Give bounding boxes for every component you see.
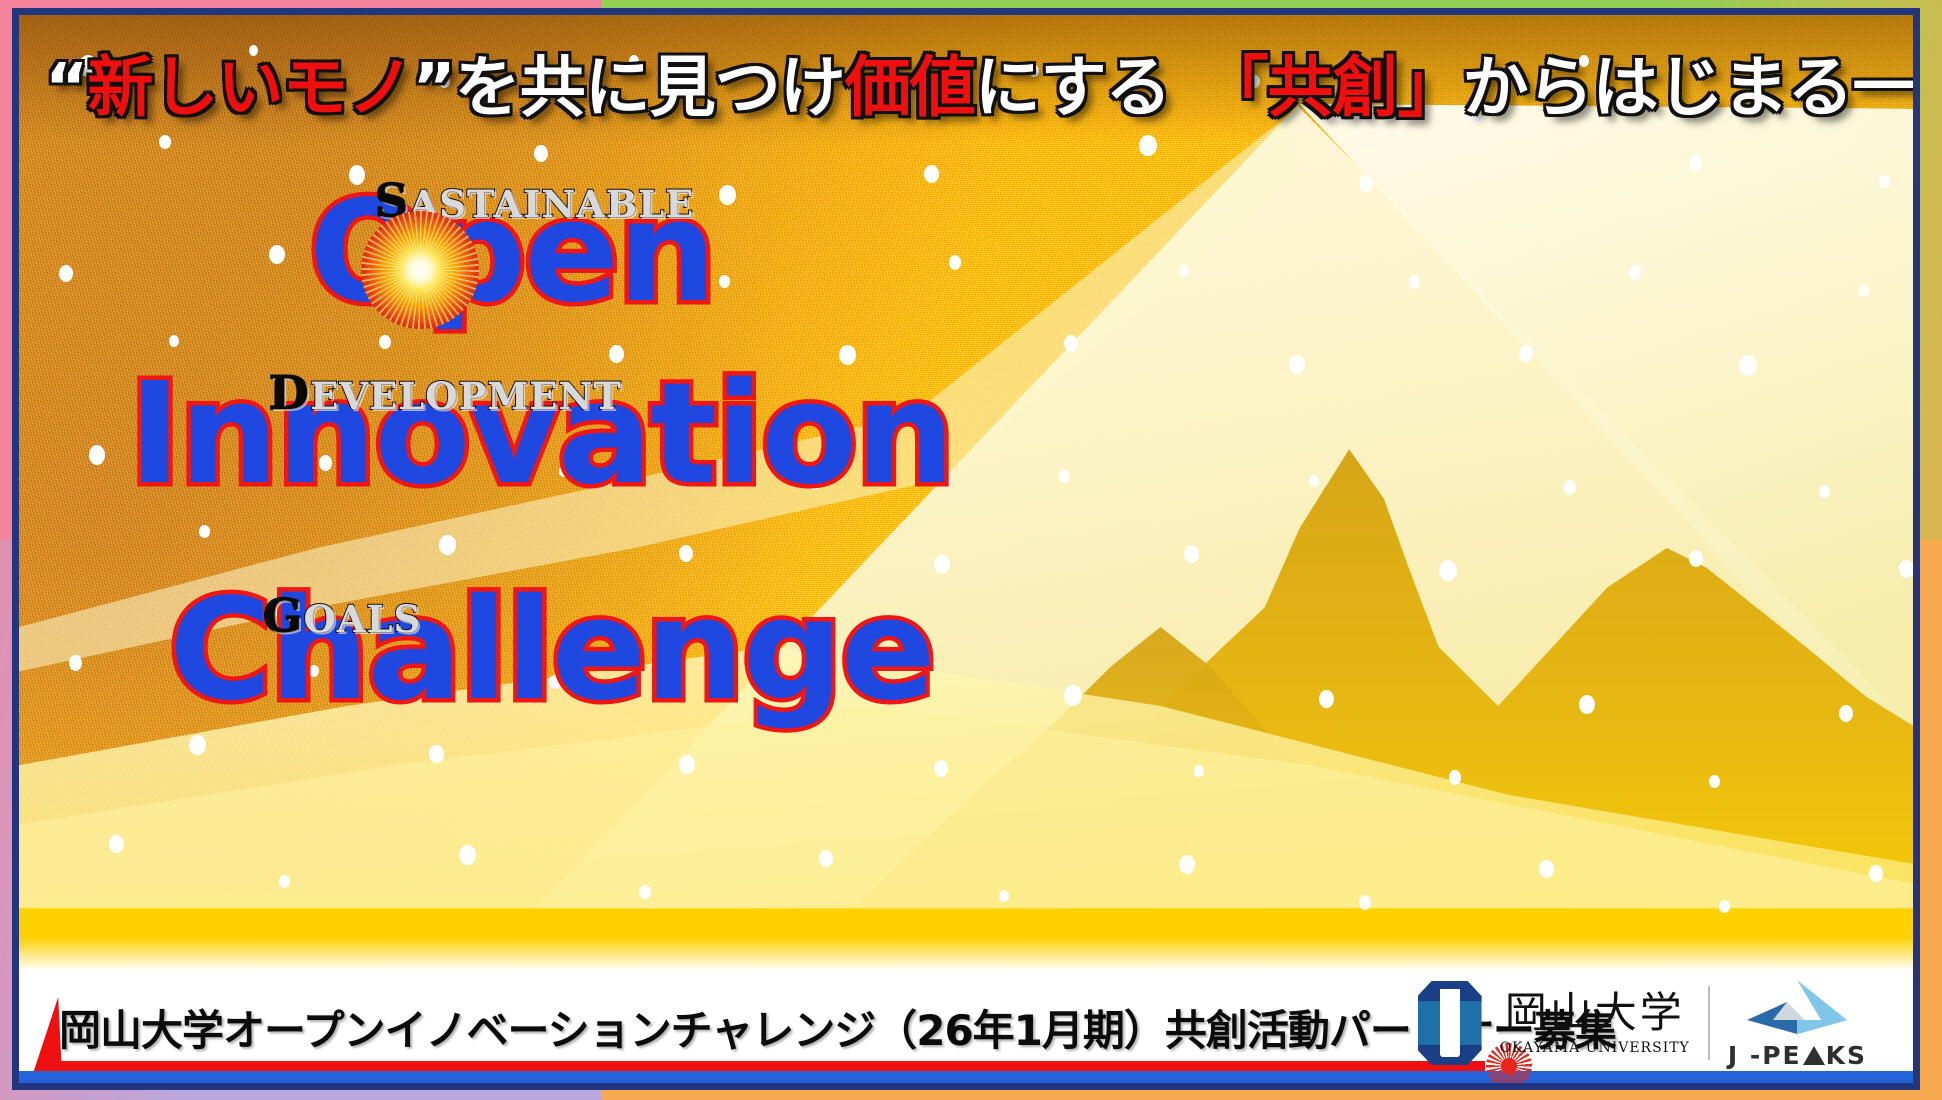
logo-group: 岡山大学 OKAYAMA UNIVERSITY J -PEKS (1418, 971, 1867, 1075)
serif-word-development: DEVELOPMENT (269, 370, 622, 416)
bottom-bar-fade (19, 937, 1913, 971)
poster-canvas: “新しいモノ”を共に見つけ価値にする 「共創」からはじまる一歩 Open SAS… (19, 15, 1913, 1083)
bottom-bar: 岡山大学オープンイノベーションチャレンジ（26年1月期）共創活動パートナー募集 … (19, 971, 1913, 1083)
j-peaks-mountain-mark-icon (1743, 976, 1851, 1038)
serif-cap-g: G (263, 589, 304, 643)
serif-word-goals: GOALS (263, 593, 421, 639)
headline-seg-1: 新しいモノ (87, 49, 412, 126)
jpeaks-wordmark: J -PEKS (1728, 1041, 1867, 1070)
sunburst-rays-icon (361, 211, 479, 329)
jpeaks-logo: J -PEKS (1728, 976, 1867, 1070)
red-wedge-icon (34, 997, 72, 1071)
headline-seg-4: にする (975, 49, 1236, 126)
headline-seg-5: 「共創」 (1235, 49, 1462, 126)
logo-divider (1708, 986, 1710, 1060)
poster-headline: “新しいモノ”を共に見つけ価値にする 「共創」からはじまる一歩 (45, 53, 1905, 122)
serif-rest-development: EVELOPMENT (310, 374, 622, 418)
serif-rest-sastainable: ASTAINABLE (409, 182, 694, 226)
okayama-university-wordmark: 岡山大学 OKAYAMA UNIVERSITY (1500, 992, 1690, 1055)
poster-slide: “新しいモノ”を共に見つけ価値にする 「共創」からはじまる一歩 Open SAS… (12, 8, 1920, 1090)
ou-u-glyph (1440, 989, 1460, 1057)
mountain-illustration (19, 15, 1913, 1083)
jpeaks-triangle-a-icon (1803, 1046, 1825, 1065)
okayama-jp-text: 岡山大学 (1505, 992, 1685, 1034)
red-underline (55, 1061, 1485, 1071)
headline-seg-6: からはじまる一歩 (1462, 49, 1913, 126)
serif-rest-goals: OALS (304, 597, 422, 641)
headline-seg-0: “ (45, 49, 87, 126)
okayama-en-text: OKAYAMA UNIVERSITY (1500, 1041, 1690, 1055)
jpeaks-text-after: KS (1826, 1041, 1867, 1070)
serif-cap-d: D (269, 366, 310, 420)
okayama-university-mark-icon (1418, 981, 1482, 1065)
jpeaks-text-before: J -PE (1728, 1041, 1802, 1070)
headline-seg-3: 価値 (845, 49, 975, 126)
headline-seg-2: ”を共に見つけ (412, 49, 844, 126)
footer-text: 岡山大学オープンイノベーションチャレンジ（26年1月期）共創活動パートナー募集 (59, 997, 1616, 1058)
